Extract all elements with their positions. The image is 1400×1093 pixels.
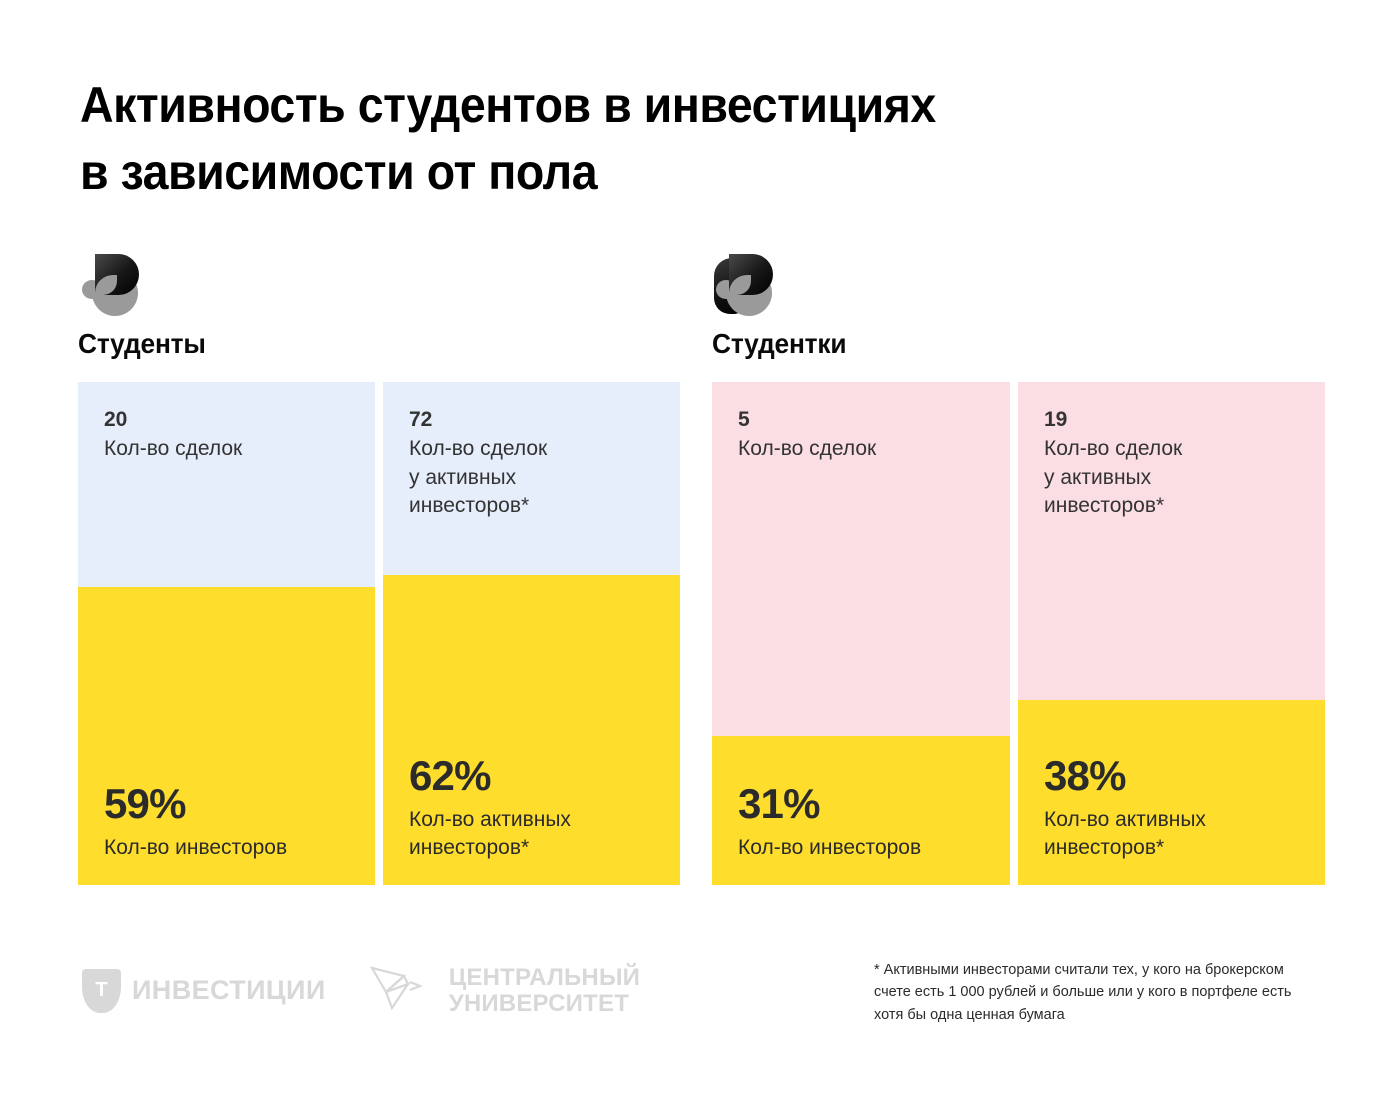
stat-value: 19 [1044, 407, 1299, 433]
bar-bottom-segment: 38% Кол-во активных инвесторов* [1018, 700, 1325, 885]
percent-value: 59% [104, 782, 349, 826]
bar-male-investors: 20 Кол-во сделок 59% Кол-во инвесторов [78, 382, 375, 885]
percent-value: 31% [738, 782, 984, 826]
stat-label: Кол-во сделок у активных инвесторов* [1044, 435, 1299, 521]
bar-bottom-segment: 31% Кол-во инвесторов [712, 736, 1010, 885]
group-header-female: Студентки [712, 252, 1325, 360]
bar-top-segment: 20 Кол-во сделок [78, 382, 375, 587]
page-title: Активность студентов в инвестициях в зав… [80, 72, 1196, 205]
percent-value: 38% [1044, 754, 1299, 798]
percent-label: Кол-во активных инвесторов* [409, 806, 654, 863]
group-label-male: Студенты [78, 328, 642, 360]
bar-top-segment: 72 Кол-во сделок у активных инвесторов* [383, 382, 680, 575]
stat-label: Кол-во сделок у активных инвесторов* [409, 435, 654, 521]
percent-label: Кол-во инвесторов [104, 834, 349, 863]
bar-top-segment: 5 Кол-во сделок [712, 382, 1010, 736]
bar-male-active-investors: 72 Кол-во сделок у активных инвесторов* … [383, 382, 680, 885]
percent-label: Кол-во активных инвесторов* [1044, 806, 1299, 863]
arrow-prism-icon [364, 962, 438, 1019]
central-university-logo-text: ЦЕНТРАЛЬНЫЙ УНИВЕРСИТЕТ [449, 965, 640, 1016]
stat-label: Кол-во сделок [104, 435, 349, 464]
t-investments-logo: T ИНВЕСТИЦИИ [82, 969, 326, 1013]
bar-group-male: 20 Кол-во сделок 59% Кол-во инвесторов 7… [78, 382, 678, 885]
stat-value: 72 [409, 407, 654, 433]
male-avatar-icon [78, 252, 150, 316]
percent-label: Кол-во инвесторов [738, 834, 984, 863]
bar-bottom-segment: 59% Кол-во инвесторов [78, 587, 375, 885]
group-header-male: Студенты [78, 252, 678, 360]
shield-t-icon: T [82, 969, 121, 1013]
footer-logos: T ИНВЕСТИЦИИ ЦЕНТРАЛЬНЫЙ УНИВЕРСИТЕТ [82, 962, 640, 1019]
central-university-logo: ЦЕНТРАЛЬНЫЙ УНИВЕРСИТЕТ [364, 962, 640, 1019]
footnote: * Активными инвесторами считали тех, у к… [874, 959, 1304, 1026]
stat-label: Кол-во сделок [738, 435, 984, 464]
bar-bottom-segment: 62% Кол-во активных инвесторов* [383, 575, 680, 885]
shield-t-letter: T [82, 980, 121, 1000]
percent-value: 62% [409, 754, 654, 798]
stat-value: 5 [738, 407, 984, 433]
bar-female-investors: 5 Кол-во сделок 31% Кол-во инвесторов [712, 382, 1010, 885]
stat-value: 20 [104, 407, 349, 433]
bar-female-active-investors: 19 Кол-во сделок у активных инвесторов* … [1018, 382, 1325, 885]
female-avatar-icon [712, 252, 784, 316]
bar-top-segment: 19 Кол-во сделок у активных инвесторов* [1018, 382, 1325, 700]
t-investments-logo-text: ИНВЕСТИЦИИ [132, 976, 326, 1005]
group-label-female: Студентки [712, 328, 1288, 360]
bar-group-female: 5 Кол-во сделок 31% Кол-во инвесторов 19… [712, 382, 1325, 885]
